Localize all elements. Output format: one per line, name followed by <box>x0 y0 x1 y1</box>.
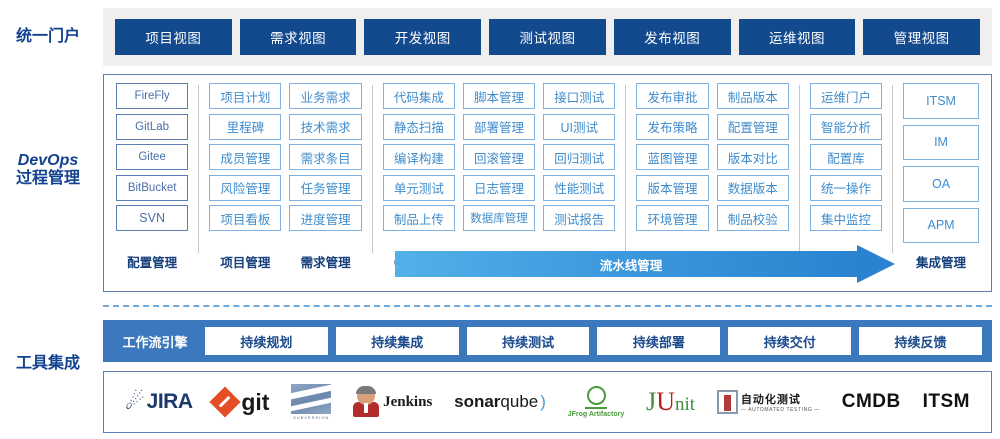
devops-capability-cell[interactable]: 需求条目 <box>289 144 361 170</box>
itsm-wordmark: ITSM <box>923 391 970 413</box>
jfrog-bar-icon <box>585 407 607 409</box>
rail-label-devops: DevOps 过程管理 <box>0 152 96 189</box>
devops-column: 项目计划里程碑成员管理风险管理项目看板项目管理 <box>205 83 285 271</box>
section-divider <box>103 305 992 307</box>
jfrog-wordmark: JFrog Artifactory <box>568 411 625 418</box>
git-diamond-icon <box>210 386 241 417</box>
tool-logo-cmdb: CMDB <box>842 379 901 425</box>
devops-capability-cell[interactable]: SVN <box>116 205 188 231</box>
pipeline-arrow-head <box>857 245 895 283</box>
devops-capability-cell[interactable]: ITSM <box>903 83 979 119</box>
devops-capability-cell[interactable]: 测试报告 <box>543 205 615 231</box>
portal-band: 项目视图需求视图开发视图测试视图发布视图运维视图管理视图 <box>103 8 992 66</box>
tool-logo-git: git <box>214 379 269 425</box>
tool-logo-panel: ☄JIRAgitSUBVERSIONJenkinssonarqube)JFrog… <box>103 371 992 433</box>
tool-logo-jenkins: Jenkins <box>353 379 432 425</box>
devops-column-footer: 项目管理 <box>209 249 281 271</box>
devops-column: 代码集成静态扫描编译构建单元测试制品上传CI流水线 <box>379 83 459 271</box>
rail-label-portal-text: 统一门户 <box>0 28 96 46</box>
devops-column: ITSMIMOAAPM集成管理 <box>899 83 983 271</box>
devops-capability-cell[interactable]: APM <box>903 208 979 244</box>
devops-capability-cell[interactable]: 部署管理 <box>463 114 535 140</box>
portal-view-button[interactable]: 运维视图 <box>739 19 856 55</box>
pipeline-arrow: 流水线管理 <box>395 251 895 277</box>
devops-column: 接口测试UI测试回归测试性能测试测试报告CT流水线 <box>539 83 619 271</box>
devops-capability-cell[interactable]: 版本管理 <box>636 175 708 201</box>
devops-capability-cell[interactable]: 任务管理 <box>289 175 361 201</box>
sonarqube-wordmark-bold: sonar <box>454 392 500 412</box>
devops-capability-cell[interactable]: 制品校验 <box>717 205 789 231</box>
devops-capability-cell[interactable]: 数据版本 <box>717 175 789 201</box>
devops-column: 运维门户智能分析配置库统一操作集中监控运维管理 <box>806 83 886 271</box>
devops-column-footer: 配置管理 <box>116 249 188 271</box>
tool-logo-jira: ☄JIRA <box>125 379 193 425</box>
devops-capability-cell[interactable]: 代码集成 <box>383 83 455 109</box>
portal-view-button[interactable]: 需求视图 <box>240 19 357 55</box>
automated-testing-en: — AUTOMATED TESTING — <box>741 407 820 413</box>
junit-wordmark-rest: nit <box>675 394 695 416</box>
devops-panel: FireFlyGitLabGiteeBitBucketSVN配置管理项目计划里程… <box>103 74 992 292</box>
automated-testing-icon <box>717 390 738 414</box>
devops-capability-cell[interactable]: UI测试 <box>543 114 615 140</box>
jenkins-butler-icon <box>353 387 379 417</box>
column-group-separator <box>198 85 199 253</box>
devops-capability-cell[interactable]: 制品版本 <box>717 83 789 109</box>
column-group-separator <box>625 85 626 253</box>
devops-capability-cell[interactable]: 性能测试 <box>543 175 615 201</box>
workflow-stage[interactable]: 持续部署 <box>597 327 720 355</box>
devops-capability-cell[interactable]: 统一操作 <box>810 175 882 201</box>
tool-logo-sonarqube: sonarqube) <box>454 379 546 425</box>
sonarqube-wave-icon: ) <box>540 392 546 412</box>
rail-label-devops-cn: 过程管理 <box>0 170 96 188</box>
pipeline-arrow-label: 流水线管理 <box>600 255 663 274</box>
junit-letter-u: U <box>656 387 675 417</box>
devops-capability-cell[interactable]: 里程碑 <box>209 114 281 140</box>
devops-capability-cell[interactable]: 进度管理 <box>289 205 361 231</box>
rail-label-portal: 统一门户 <box>0 28 96 46</box>
devops-capability-cell[interactable]: 项目计划 <box>209 83 281 109</box>
devops-capability-cell[interactable]: 配置管理 <box>717 114 789 140</box>
devops-capability-cell[interactable]: 静态扫描 <box>383 114 455 140</box>
devops-capability-cell[interactable]: GitLab <box>116 114 188 140</box>
devops-capability-cell[interactable]: 集中监控 <box>810 205 882 231</box>
devops-capability-cell[interactable]: 版本对比 <box>717 144 789 170</box>
sonarqube-wordmark-thin: qube <box>500 392 538 412</box>
jenkins-wordmark: Jenkins <box>383 394 432 411</box>
automated-testing-cn: 自动化测试 <box>741 391 820 407</box>
tool-logo-automated-testing: 自动化测试— AUTOMATED TESTING — <box>717 379 820 425</box>
devops-capability-cell[interactable]: 接口测试 <box>543 83 615 109</box>
devops-capability-cell[interactable]: 单元测试 <box>383 175 455 201</box>
portal-view-button[interactable]: 开发视图 <box>364 19 481 55</box>
devops-capability-cell[interactable]: 成员管理 <box>209 144 281 170</box>
portal-view-button[interactable]: 管理视图 <box>863 19 980 55</box>
devops-column-footer: 需求管理 <box>289 249 361 271</box>
subversion-mark-icon <box>291 384 331 414</box>
devops-capability-cell[interactable]: 编译构建 <box>383 144 455 170</box>
devops-column: 发布审批发布策略蓝图管理版本管理环境管理发布管理 <box>632 83 712 271</box>
devops-capability-cell[interactable]: 项目看板 <box>209 205 281 231</box>
devops-capability-cell[interactable]: 风险管理 <box>209 175 281 201</box>
portal-view-button[interactable]: 发布视图 <box>614 19 731 55</box>
devops-columns: FireFlyGitLabGiteeBitBucketSVN配置管理项目计划里程… <box>112 83 983 271</box>
workflow-stage[interactable]: 持续反馈 <box>859 327 982 355</box>
devops-capability-cell[interactable]: 发布策略 <box>636 114 708 140</box>
devops-architecture-diagram: 统一门户 DevOps 过程管理 工具集成 项目视图需求视图开发视图测试视图发布… <box>0 0 1000 439</box>
cmdb-wordmark: CMDB <box>842 391 901 413</box>
devops-column: 业务需求技术需求需求条目任务管理进度管理需求管理 <box>285 83 365 271</box>
workflow-stage[interactable]: 持续交付 <box>728 327 851 355</box>
devops-column: FireFlyGitLabGiteeBitBucketSVN配置管理 <box>112 83 192 271</box>
devops-capability-cell[interactable]: 智能分析 <box>810 114 882 140</box>
jfrog-ring-icon <box>587 386 606 405</box>
devops-column: 制品版本配置管理版本对比数据版本制品校验制品管理 <box>713 83 793 271</box>
tool-logo-itsm: ITSM <box>923 379 970 425</box>
devops-capability-cell[interactable]: 制品上传 <box>383 205 455 231</box>
workflow-stage[interactable]: 持续集成 <box>336 327 459 355</box>
workflow-stage[interactable]: 持续规划 <box>205 327 328 355</box>
devops-capability-cell[interactable]: 业务需求 <box>289 83 361 109</box>
devops-column-footer: 集成管理 <box>903 249 979 271</box>
devops-capability-cell[interactable]: IM <box>903 125 979 161</box>
jira-glyph-icon: ☄ <box>125 391 145 413</box>
devops-column: 脚本管理部署管理回滚管理日志管理数据库管理CD流水线 <box>459 83 539 271</box>
devops-capability-cell[interactable]: FireFly <box>116 83 188 109</box>
tool-logo-jfrog: JFrog Artifactory <box>568 379 625 425</box>
workflow-stage[interactable]: 持续测试 <box>467 327 590 355</box>
devops-capability-cell[interactable]: 运维门户 <box>810 83 882 109</box>
devops-capability-cell[interactable]: 脚本管理 <box>463 83 535 109</box>
jira-wordmark: JIRA <box>147 390 193 414</box>
tool-logo-svn: SUBVERSION <box>291 379 331 425</box>
devops-capability-cell[interactable]: 蓝图管理 <box>636 144 708 170</box>
rail-label-tools: 工具集成 <box>0 355 96 373</box>
junit-letter-j: J <box>646 387 656 417</box>
devops-capability-cell[interactable]: 配置库 <box>810 144 882 170</box>
devops-capability-cell[interactable]: 日志管理 <box>463 175 535 201</box>
devops-capability-cell[interactable]: BitBucket <box>116 175 188 201</box>
subversion-wordmark: SUBVERSION <box>293 415 329 420</box>
column-group-separator <box>372 85 373 253</box>
devops-capability-cell[interactable]: 环境管理 <box>636 205 708 231</box>
devops-capability-cell[interactable]: 回归测试 <box>543 144 615 170</box>
git-wordmark: git <box>241 389 269 416</box>
tool-logo-junit: JUnit <box>646 379 695 425</box>
portal-view-button[interactable]: 测试视图 <box>489 19 606 55</box>
devops-capability-cell[interactable]: Gitee <box>116 144 188 170</box>
pipeline-arrow-body: 流水线管理 <box>395 251 857 277</box>
column-group-separator <box>799 85 800 253</box>
devops-capability-cell[interactable]: 数据库管理 <box>463 205 535 231</box>
devops-capability-cell[interactable]: 回滚管理 <box>463 144 535 170</box>
workflow-stage-list: 持续规划持续集成持续测试持续部署持续交付持续反馈 <box>201 327 986 355</box>
column-group-separator <box>892 85 893 253</box>
rail-label-tools-text: 工具集成 <box>0 355 96 373</box>
rail-label-devops-en: DevOps <box>18 152 78 169</box>
portal-view-button[interactable]: 项目视图 <box>115 19 232 55</box>
workflow-engine-title: 工作流引擎 <box>109 332 201 351</box>
devops-capability-cell[interactable]: 技术需求 <box>289 114 361 140</box>
devops-capability-cell[interactable]: 发布审批 <box>636 83 708 109</box>
devops-capability-cell[interactable]: OA <box>903 166 979 202</box>
workflow-band: 工作流引擎 持续规划持续集成持续测试持续部署持续交付持续反馈 <box>103 320 992 362</box>
